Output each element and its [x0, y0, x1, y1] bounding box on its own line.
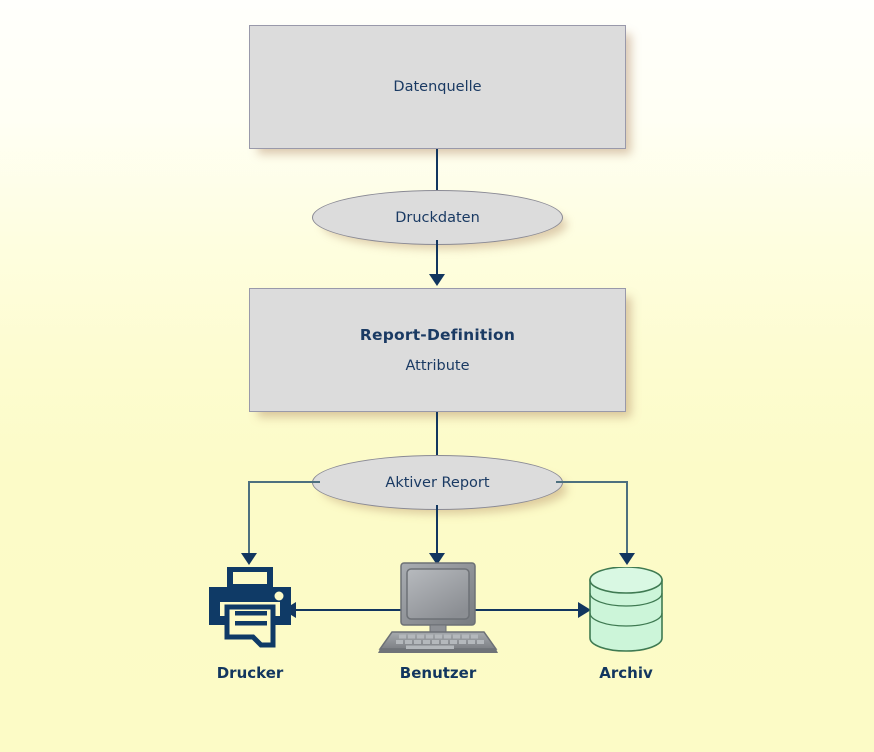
connector-aktiverreport-drucker-horizontal: [248, 481, 320, 483]
node-report-definition-sublabel: Attribute: [405, 358, 469, 374]
endpoint-label-benutzer-text: Benutzer: [400, 664, 476, 682]
connector-druckdaten-reportdefinition: [436, 240, 438, 276]
node-datenquelle[interactable]: Datenquelle: [249, 25, 626, 149]
endpoint-label-drucker-text: Drucker: [217, 664, 284, 682]
node-druckdaten-label: Druckdaten: [395, 210, 480, 226]
database-cylinder-icon: [588, 567, 664, 653]
arrowhead-to-reportdefinition: [429, 274, 445, 286]
laptop-icon-wrapper[interactable]: [376, 561, 500, 655]
connector-aktiverreport-benutzer: [436, 505, 438, 555]
arrowhead-to-archiv: [619, 553, 635, 565]
connector-aktiverreport-drucker-vertical: [248, 481, 250, 555]
node-report-definition-label: Report-Definition: [360, 326, 515, 344]
printer-icon-wrapper[interactable]: [205, 567, 295, 649]
diagram-canvas: Datenquelle Druckdaten Report-Definition…: [0, 0, 874, 752]
node-datenquelle-label: Datenquelle: [393, 79, 481, 95]
endpoint-label-drucker: Drucker: [185, 664, 315, 682]
arrowhead-to-drucker: [241, 553, 257, 565]
node-report-definition[interactable]: Report-Definition Attribute: [249, 288, 626, 412]
printer-icon: [205, 567, 295, 649]
node-aktiver-report[interactable]: Aktiver Report: [312, 455, 563, 510]
database-cylinder-icon-wrapper[interactable]: [588, 567, 664, 653]
connector-aktiverreport-archiv-vertical: [626, 481, 628, 555]
endpoint-label-archiv-text: Archiv: [599, 664, 653, 682]
endpoint-label-archiv: Archiv: [561, 664, 691, 682]
node-druckdaten[interactable]: Druckdaten: [312, 190, 563, 245]
node-aktiver-report-label: Aktiver Report: [385, 475, 489, 491]
laptop-icon: [376, 561, 500, 655]
connector-aktiverreport-archiv-horizontal: [556, 481, 628, 483]
endpoint-label-benutzer: Benutzer: [373, 664, 503, 682]
